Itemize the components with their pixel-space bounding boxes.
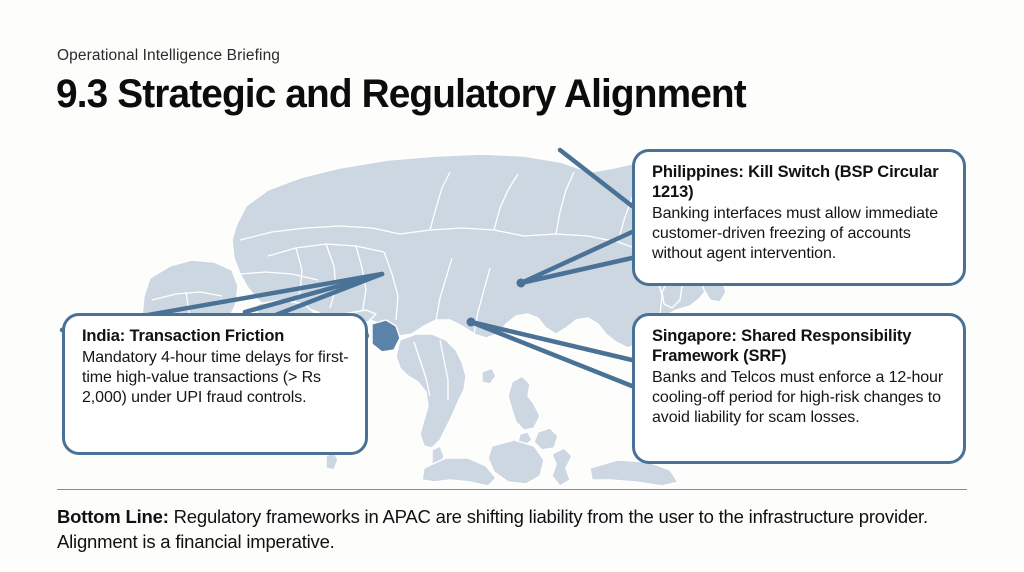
map-hainan bbox=[482, 368, 496, 384]
map-philippines-luzon bbox=[508, 376, 540, 430]
callout-singapore[interactable]: Singapore: Shared Responsibility Framewo… bbox=[632, 313, 966, 464]
callout-india-body: Mandatory 4-hour time delays for first-t… bbox=[82, 348, 350, 408]
callout-singapore-body: Banks and Telcos must enforce a 12-hour … bbox=[652, 368, 948, 428]
callout-philippines-title: Philippines: Kill Switch (BSP Circular 1… bbox=[652, 163, 948, 203]
map-sulawesi bbox=[552, 448, 572, 486]
callout-singapore-title: Singapore: Shared Responsibility Framewo… bbox=[652, 327, 948, 367]
footer-divider bbox=[57, 489, 967, 490]
eyebrow-label: Operational Intelligence Briefing bbox=[57, 47, 280, 65]
page-title: 9.3 Strategic and Regulatory Alignment bbox=[56, 72, 746, 117]
callout-india[interactable]: India: Transaction Friction Mandatory 4-… bbox=[62, 313, 368, 455]
callout-india-title: India: Transaction Friction bbox=[82, 327, 350, 347]
bottom-line-label: Bottom Line: bbox=[57, 506, 169, 527]
bottom-line: Bottom Line: Regulatory frameworks in AP… bbox=[57, 505, 982, 555]
callout-philippines[interactable]: Philippines: Kill Switch (BSP Circular 1… bbox=[632, 149, 966, 286]
map-southeast-asia bbox=[396, 334, 466, 448]
callout-philippines-body: Banking interfaces must allow immediate … bbox=[652, 204, 948, 264]
map-philippines-mindanao bbox=[534, 428, 558, 450]
bottom-line-text: Regulatory frameworks in APAC are shifti… bbox=[57, 506, 928, 552]
slide-canvas: Operational Intelligence Briefing 9.3 St… bbox=[0, 0, 1024, 572]
